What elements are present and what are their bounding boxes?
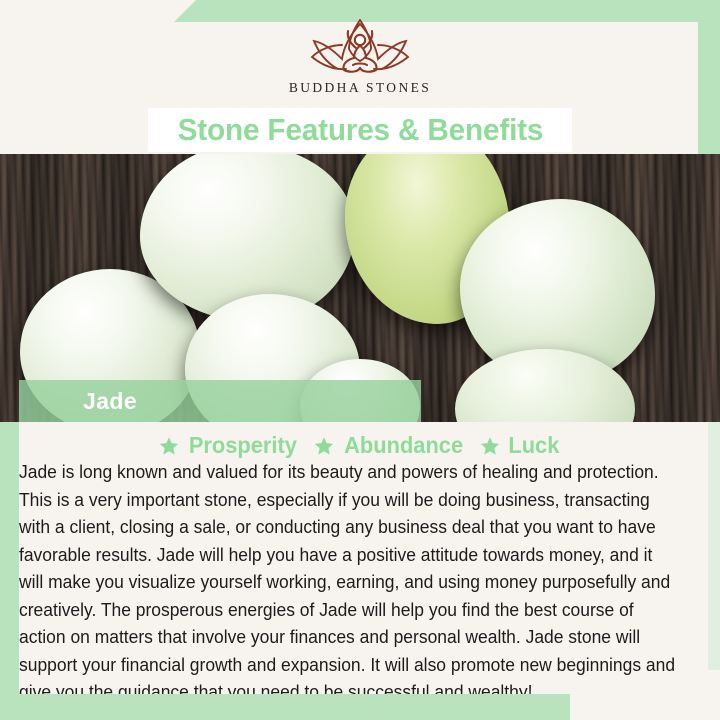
star-icon bbox=[480, 436, 500, 456]
page-title: Stone Features & Benefits bbox=[177, 112, 543, 148]
lotus-meditation-icon bbox=[300, 15, 420, 77]
star-icon bbox=[159, 436, 179, 456]
brand-header: BUDDHA STONES bbox=[0, 0, 720, 110]
stone-name-label: Jade bbox=[83, 388, 137, 415]
benefit-item-abundance: Abundance bbox=[314, 432, 466, 459]
title-banner: Stone Features & Benefits bbox=[148, 108, 572, 152]
benefit-label: Luck bbox=[508, 432, 559, 459]
benefit-label: Prosperity bbox=[189, 432, 297, 459]
frame-bottom-right-notch bbox=[570, 694, 720, 720]
benefit-item-luck: Luck bbox=[480, 432, 561, 459]
benefit-item-prosperity: Prosperity bbox=[159, 432, 300, 459]
benefit-label: Abundance bbox=[344, 432, 463, 459]
stone-name-band: Jade bbox=[19, 380, 421, 422]
brand-name: BUDDHA STONES bbox=[289, 80, 431, 96]
star-icon bbox=[314, 436, 334, 456]
stone-description: Jade is long known and valued for its be… bbox=[19, 458, 676, 706]
stone-info-card: BUDDHA STONES Stone Features & Benefits … bbox=[0, 0, 720, 720]
benefits-row: Prosperity Abundance Luck bbox=[0, 432, 720, 459]
